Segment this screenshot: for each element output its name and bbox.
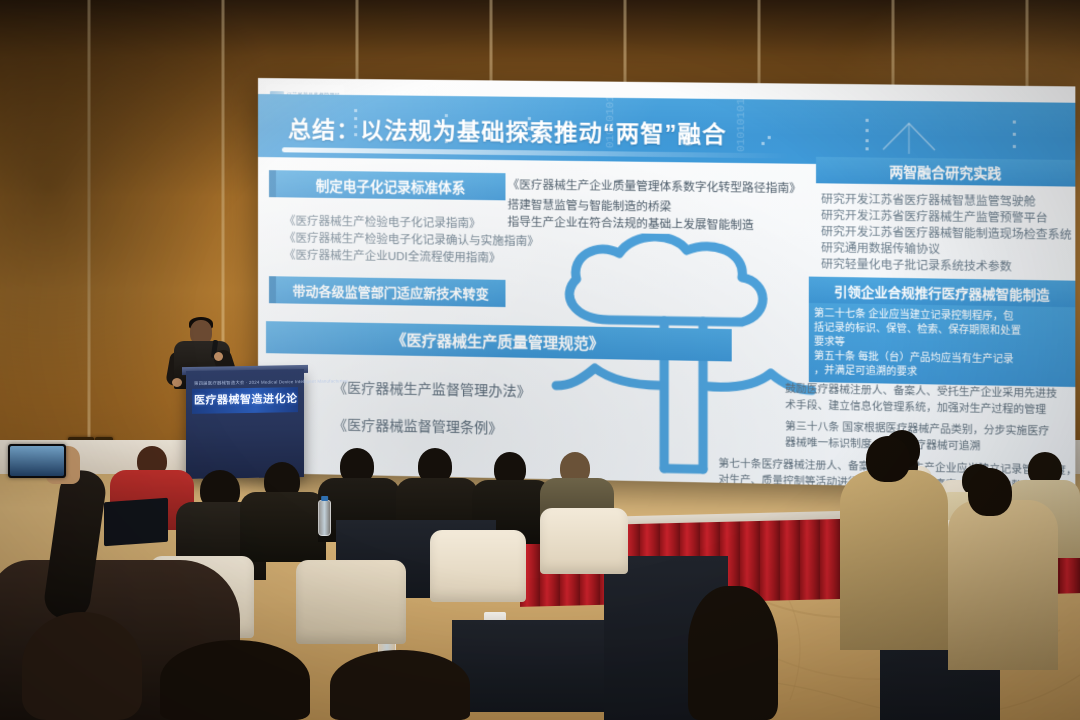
right-column-header-1: 两智融合研究实践: [816, 157, 1075, 187]
foreground-attendee-head: [330, 650, 470, 720]
chair: [540, 508, 628, 574]
svg-text:010101010: 010101010: [736, 94, 748, 152]
attendee-head: [866, 436, 910, 482]
phone-screen: [10, 446, 64, 476]
foreground-attendee-head: [688, 586, 778, 720]
regulation-level-2: 《医疗器械生产监督管理办法》: [333, 377, 531, 401]
law-block-2: 第三十八条 国家根据医疗器械产品类别，分步实施医疗 器械唯一标识制度，实现医疗器…: [785, 418, 1075, 457]
law-block-1: 鼓励医疗器械注册人、备案人、受托生产企业采用先进技 术手段、建立信息化管理系统，…: [785, 381, 1075, 419]
conference-photo-scene: 江苏省药品监督管理局: [0, 0, 1080, 720]
regulation-level-1: 《医疗器械生产质量管理规范》: [266, 321, 732, 361]
foreground-attendee-head: [22, 612, 142, 720]
left-column-header-2: 带动各级监管部门适应新技术转变: [276, 276, 505, 307]
center-doc-title: 《医疗器械生产企业质量管理体系数字化转型路径指南》: [508, 177, 802, 198]
smartphone: [8, 444, 66, 478]
attendee-head: [968, 468, 1012, 516]
projection-screen: 江苏省药品监督管理局: [258, 78, 1075, 490]
regulation-level-3: 《医疗器械监督管理条例》: [333, 414, 502, 437]
regulation-note-box: 第二十七条 企业应当建立记录控制程序，包 括记录的标识、保管、检索、保存期限和处…: [809, 303, 1076, 387]
left-column-header-1: 制定电子化记录标准体系: [276, 170, 505, 200]
left-doc-3: 《医疗器械生产企业UDI全流程使用指南》: [284, 247, 501, 267]
slide-title: 总结：以法规为基础探索推动“两智”融合: [288, 110, 727, 149]
podium-chinese-text: 医疗器械智造进化论: [194, 390, 298, 408]
center-line-2: 指导生产企业在符合法规的基础上发展智能制造: [508, 214, 754, 235]
laptop: [104, 498, 168, 546]
attendee-tan-jacket: [840, 470, 948, 650]
speaker-right-hand: [214, 352, 223, 361]
water-bottle: [318, 500, 331, 536]
chair: [296, 560, 406, 644]
slide-title-band: 010101010 010101010 总结：以法规为基础探索推动“两智”融合: [258, 94, 1075, 167]
attendee-torso: [240, 492, 326, 562]
foreground-attendee-head: [160, 640, 310, 720]
bottle-cap: [321, 496, 329, 501]
attendee-tan-jacket: [948, 500, 1058, 670]
right-item-5: 研究轻量化电子批记录系统技术参数: [821, 256, 1012, 276]
speaker-left-hand: [172, 378, 182, 387]
slide-surface: 江苏省药品监督管理局: [258, 78, 1075, 490]
chair: [430, 530, 526, 602]
